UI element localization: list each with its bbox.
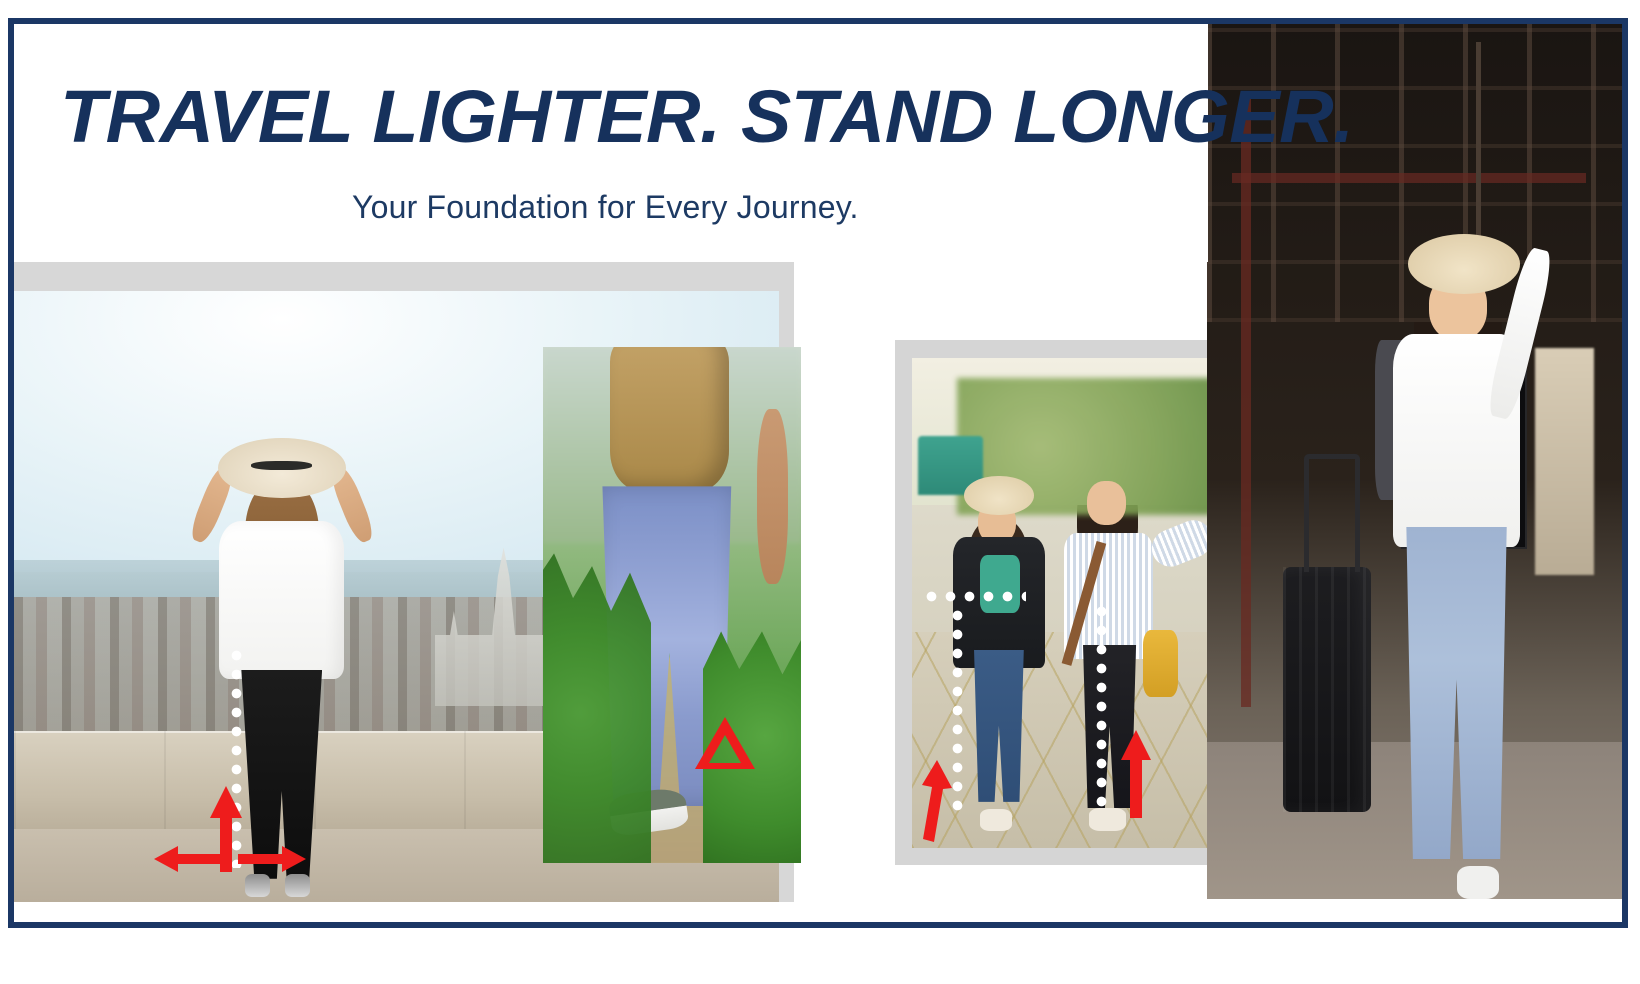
tan-backpack bbox=[610, 347, 729, 491]
hip-level-dotline-photo3 bbox=[922, 591, 1026, 602]
rolling-suitcase bbox=[1283, 567, 1371, 812]
photo-hiker-legs-trail bbox=[543, 347, 801, 863]
leg-alignment-dotline-right-photo3 bbox=[1096, 602, 1107, 814]
stability-arrow-right-photo1 bbox=[236, 844, 308, 874]
left-shoe bbox=[245, 874, 270, 897]
support-arrow-left-photo3 bbox=[918, 758, 954, 844]
blue-jeans bbox=[972, 650, 1026, 802]
green-crop-top bbox=[980, 555, 1021, 613]
woman-with-hat bbox=[951, 476, 1048, 839]
poster-canvas: TRAVEL LIGHTER. STAND LONGER. Your Found… bbox=[0, 0, 1640, 984]
face bbox=[1087, 481, 1126, 526]
white-sneakers bbox=[980, 809, 1013, 831]
red-pipe-vertical bbox=[1241, 94, 1252, 707]
header-band: TRAVEL LIGHTER. STAND LONGER. Your Found… bbox=[14, 24, 1208, 262]
hanging-lamp bbox=[1476, 42, 1480, 252]
straw-hat bbox=[964, 476, 1034, 516]
woman-figure bbox=[1384, 234, 1536, 899]
red-pipe-horizontal bbox=[1232, 173, 1586, 184]
page-title: TRAVEL LIGHTER. STAND LONGER. bbox=[60, 80, 1233, 154]
lit-window bbox=[1535, 348, 1594, 576]
support-arrow-right-photo3 bbox=[1118, 728, 1154, 820]
sun-hat bbox=[218, 438, 346, 498]
foreground-grass-left bbox=[543, 553, 651, 863]
white-sneakers bbox=[1457, 866, 1499, 899]
yellow-bag bbox=[1143, 630, 1178, 697]
straw-hat bbox=[1408, 234, 1520, 294]
stability-arrow-left-photo1 bbox=[152, 844, 224, 874]
strike-warning-triangle-photo2 bbox=[693, 715, 757, 771]
wide-leg-jeans bbox=[1402, 527, 1511, 860]
page-subtitle: Your Foundation for Every Journey. bbox=[352, 189, 859, 226]
right-shoe bbox=[285, 874, 310, 897]
hiker-arm bbox=[757, 409, 788, 584]
